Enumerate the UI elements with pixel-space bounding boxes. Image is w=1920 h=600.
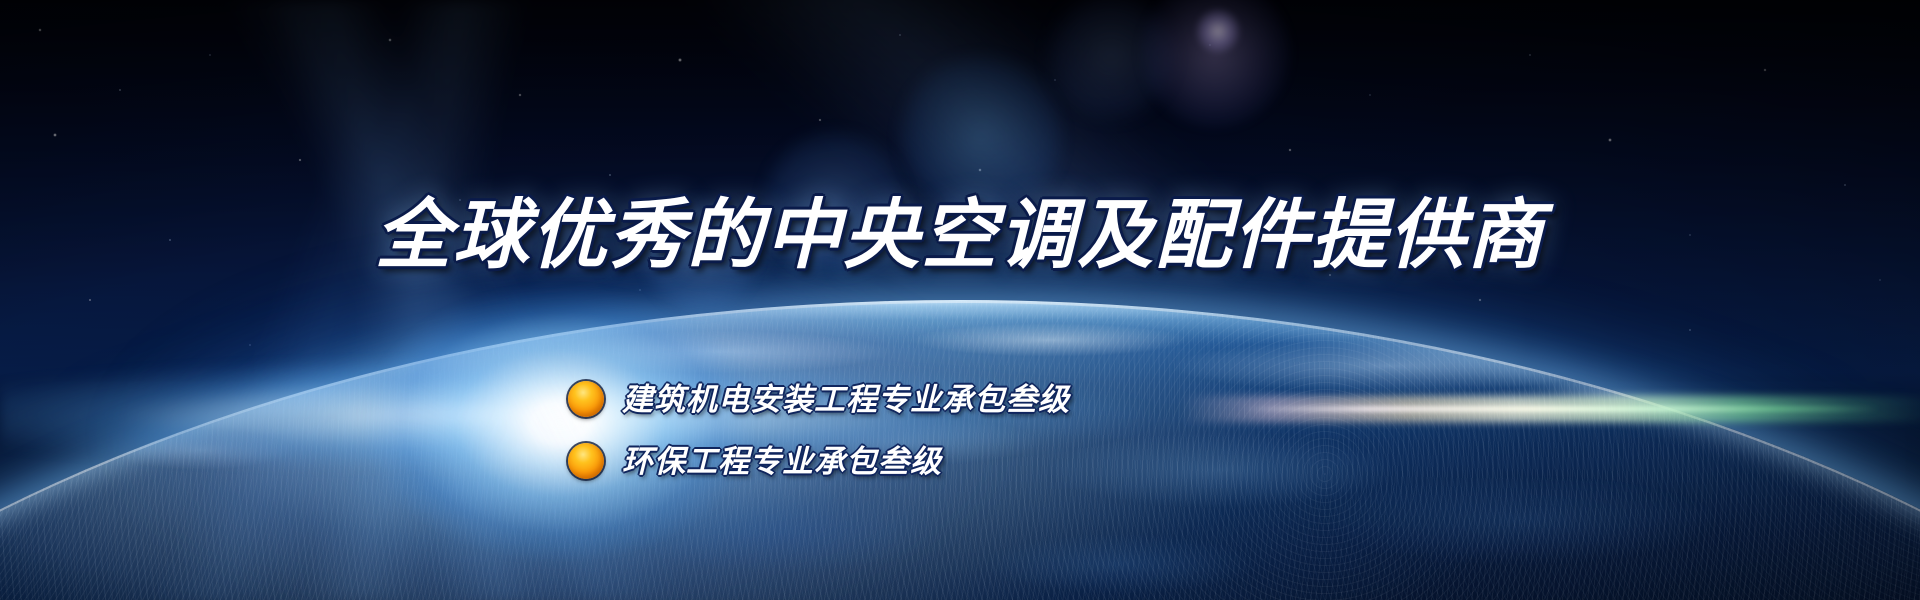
list-item: 建筑机电安装工程专业承包叁级: [568, 378, 1070, 420]
hero-banner: 全球优秀的中央空调及配件提供商 建筑机电安装工程专业承包叁级 环保工程专业承包叁…: [0, 0, 1920, 600]
orange-sphere-bullet-icon: [568, 443, 604, 479]
list-item: 环保工程专业承包叁级: [568, 440, 1070, 482]
orange-sphere-bullet-icon: [568, 381, 604, 417]
banner-bullet-list: 建筑机电安装工程专业承包叁级 环保工程专业承包叁级: [568, 378, 1070, 502]
banner-content: 全球优秀的中央空调及配件提供商 建筑机电安装工程专业承包叁级 环保工程专业承包叁…: [0, 0, 1920, 600]
banner-headline: 全球优秀的中央空调及配件提供商: [0, 198, 1920, 274]
bullet-label: 建筑机电安装工程专业承包叁级: [622, 384, 1070, 415]
bullet-label: 环保工程专业承包叁级: [622, 446, 942, 477]
